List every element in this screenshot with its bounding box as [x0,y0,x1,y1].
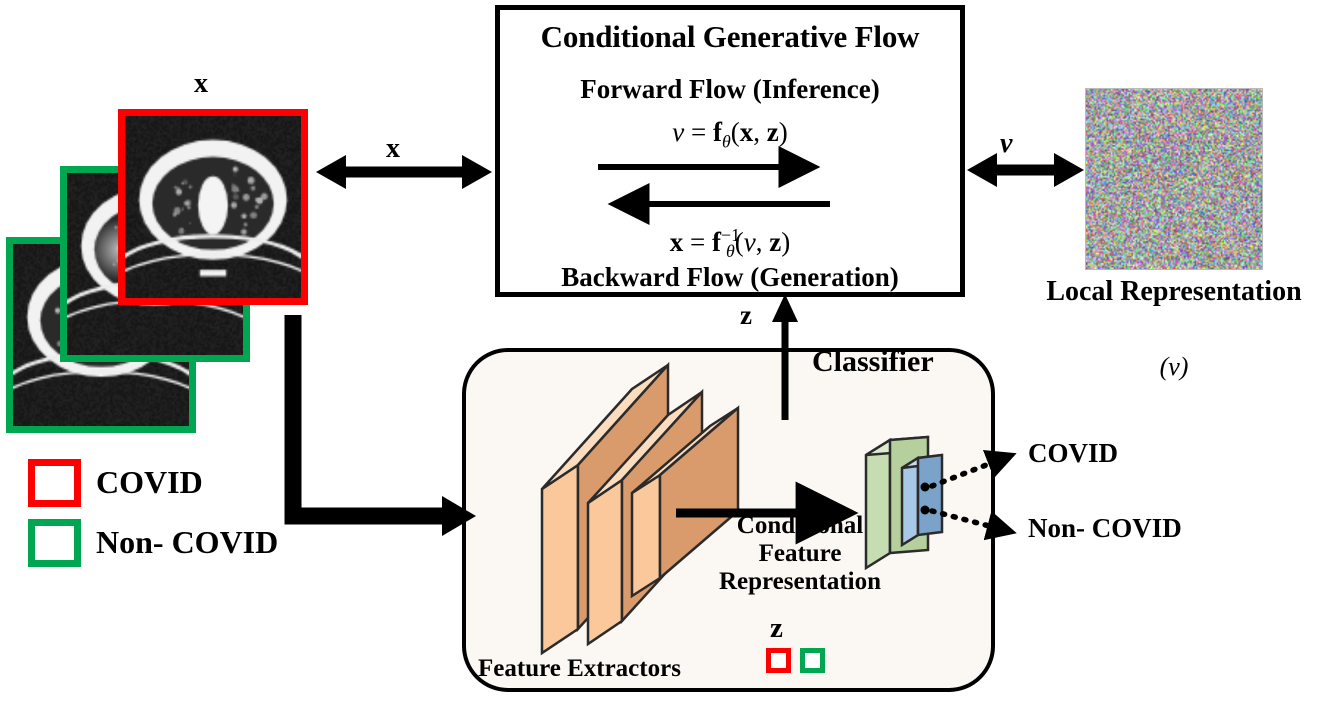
legend-covid-label: COVID [96,464,203,501]
z-covid-swatch [766,648,791,673]
flow-to-latent-arrow-label: ν [1000,128,1012,160]
latent-z-symbol: z [770,612,783,645]
backward-flow-label: Backward Flow (Generation) [500,262,960,293]
x-double-arrow [316,155,492,189]
input-x-label: x [194,68,208,100]
flow-title: Conditional Generative Flow [500,19,960,55]
output-covid-label: COVID [1028,438,1118,469]
legend-noncovid-swatch [28,519,81,567]
conditional-feature-representation-label: Conditional Feature Representation [700,512,900,596]
legend-covid-swatch [28,459,81,507]
forward-flow-equation: ν = fθ(x, z) [500,117,960,152]
legend-noncovid-label: Non- COVID [96,524,278,561]
feature-extractors-label: Feature Extractors [478,655,681,683]
output-noncovid-label: Non- COVID [1028,513,1182,544]
z-noncovid-swatch [800,648,825,673]
local-representation-caption: Local Representation [1040,276,1308,307]
classifier-title: Classifier [812,345,934,379]
conditional-generative-flow-box: Conditional Generative Flow Forward Flow… [495,5,965,297]
nu-double-arrow [967,153,1084,187]
forward-flow-label: Forward Flow (Inference) [500,74,960,105]
local-representation-symbol: (ν) [1040,352,1308,382]
local-representation-noise-image [1085,88,1263,270]
ct-slice-front [118,109,308,305]
classifier-to-flow-arrow-label: z [740,300,752,331]
backward-flow-equation: x = f−1θ(ν, z) [500,225,960,262]
input-to-flow-arrow-label: x [386,133,400,165]
input-to-classifier-elbow [293,315,476,536]
